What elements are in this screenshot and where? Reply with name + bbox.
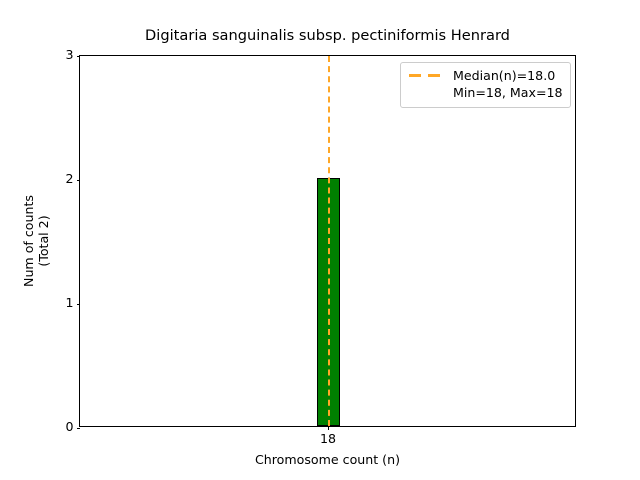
plot-area: 0 1 2 3 18 (79, 55, 576, 427)
y-axis-label: Num of counts (Total 2) (24, 55, 50, 427)
y-tick-mark (77, 56, 81, 57)
legend-label-minmax: Min=18, Max=18 (453, 85, 563, 102)
legend-text: Median(n)=18.0 Min=18, Max=18 (453, 68, 563, 101)
chart-title: Digitaria sanguinalis subsp. pectiniform… (79, 27, 576, 44)
y-tick-label: 0 (65, 419, 73, 434)
x-axis-label: Chromosome count (n) (79, 452, 576, 467)
chart-figure: Digitaria sanguinalis subsp. pectiniform… (0, 0, 640, 480)
y-axis-label-line1: Num of counts (22, 195, 37, 287)
y-tick-label: 1 (65, 295, 73, 310)
y-tick-mark (77, 180, 81, 181)
legend: Median(n)=18.0 Min=18, Max=18 (400, 62, 571, 108)
dashed-line-icon (408, 68, 444, 82)
x-tick-label: 18 (288, 431, 368, 446)
median-line (328, 56, 330, 426)
legend-label-median: Median(n)=18.0 (453, 68, 563, 85)
legend-entry-median: Median(n)=18.0 Min=18, Max=18 (408, 68, 563, 101)
x-tick-mark (328, 426, 329, 430)
y-tick-mark (77, 304, 81, 305)
y-tick-mark (77, 428, 81, 429)
y-axis-label-line2: (Total 2) (37, 195, 52, 287)
y-tick-label: 3 (65, 47, 73, 62)
y-tick-label: 2 (65, 171, 73, 186)
